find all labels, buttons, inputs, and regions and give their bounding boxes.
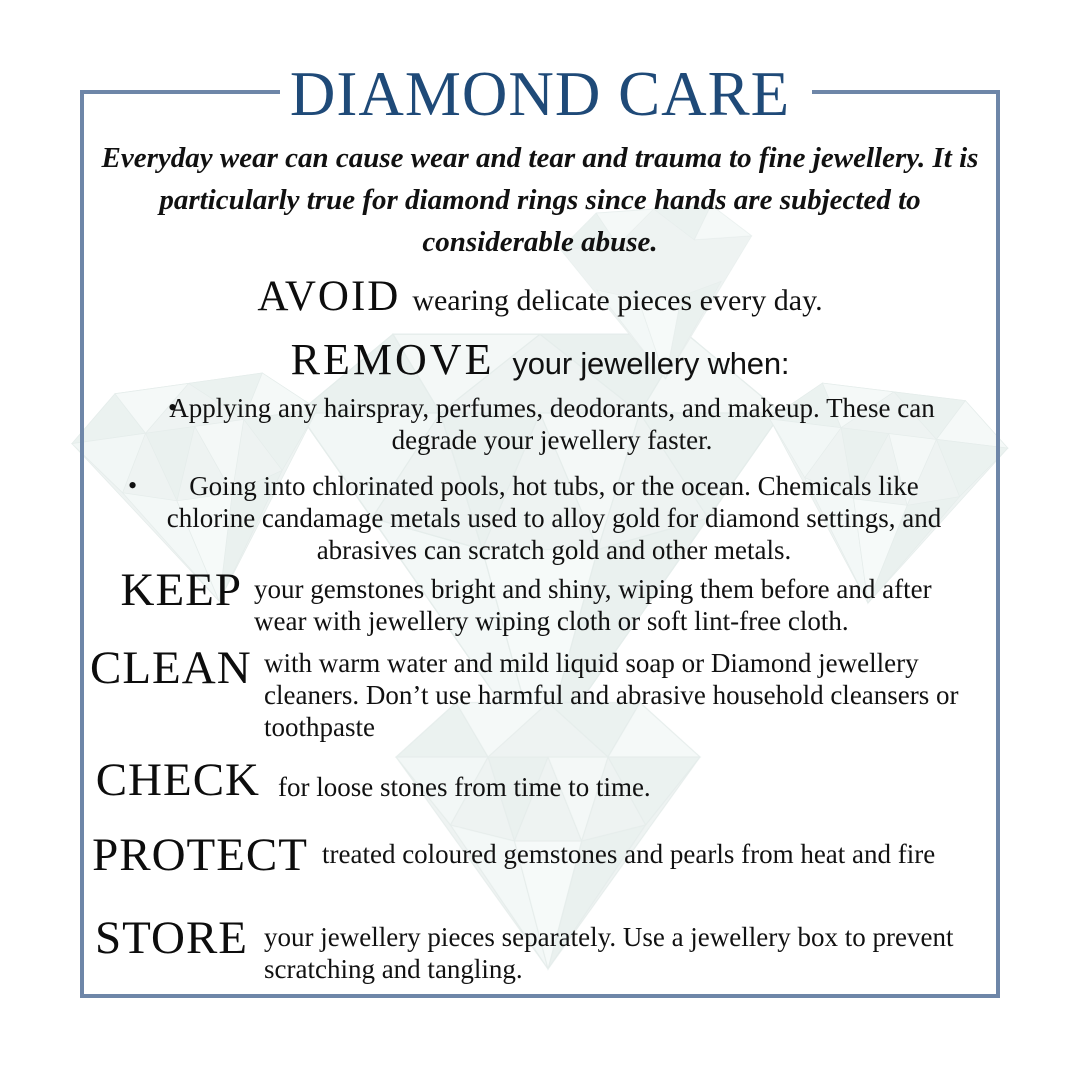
tip-row-store: STORE your jewellery pieces separately. … <box>90 915 990 985</box>
remove-keyword: REMOVE <box>291 335 495 384</box>
remove-bullet-list: • Applying any hairspray, perfumes, deod… <box>120 392 970 574</box>
tip-text-clean: with warm water and mild liquid soap or … <box>250 645 990 743</box>
tip-keyword-protect: PROTECT <box>90 832 308 879</box>
tip-keyword-keep: KEEP <box>90 567 242 614</box>
poster-content: DIAMOND CARE Everyday wear can cause wea… <box>0 0 1080 1080</box>
tip-text-protect: treated coloured gemstones and pearls fr… <box>308 832 990 870</box>
diamond-care-poster: DIAMOND CARE Everyday wear can cause wea… <box>0 0 1080 1080</box>
remove-text: your jewellery when: <box>494 346 789 381</box>
tip-text-check: for loose stones from time to time. <box>260 757 990 803</box>
tip-row-protect: PROTECT treated coloured gemstones and p… <box>90 832 990 879</box>
tip-keyword-check: CHECK <box>90 757 260 804</box>
page-title: DIAMOND CARE <box>0 60 1080 128</box>
tip-row-keep: KEEP your gemstones bright and shiny, wi… <box>90 567 990 637</box>
list-item: • Going into chlorinated pools, hot tubs… <box>120 470 970 566</box>
tip-keyword-clean: CLEAN <box>90 645 250 692</box>
tip-row-check: CHECK for loose stones from time to time… <box>90 757 990 804</box>
intro-paragraph: Everyday wear can cause wear and tear an… <box>95 137 985 263</box>
tip-text-store: your jewellery pieces separately. Use a … <box>248 915 990 985</box>
list-item-text: Going into chlorinated pools, hot tubs, … <box>120 470 970 566</box>
remove-row: REMOVEyour jewellery when: <box>0 334 1080 385</box>
avoid-keyword: AVOID <box>257 273 400 320</box>
bullet-icon: • <box>128 470 137 502</box>
tip-text-keep: your gemstones bright and shiny, wiping … <box>242 567 990 637</box>
list-item: • Applying any hairspray, perfumes, deod… <box>120 392 970 456</box>
list-item-text: Applying any hairspray, perfumes, deodor… <box>120 392 970 456</box>
avoid-text: wearing delicate pieces every day. <box>400 284 822 317</box>
avoid-row: AVOIDwearing delicate pieces every day. <box>0 272 1080 321</box>
bullet-icon: • <box>168 392 177 424</box>
tip-keyword-store: STORE <box>90 915 248 962</box>
tip-row-clean: CLEAN with warm water and mild liquid so… <box>90 645 990 743</box>
